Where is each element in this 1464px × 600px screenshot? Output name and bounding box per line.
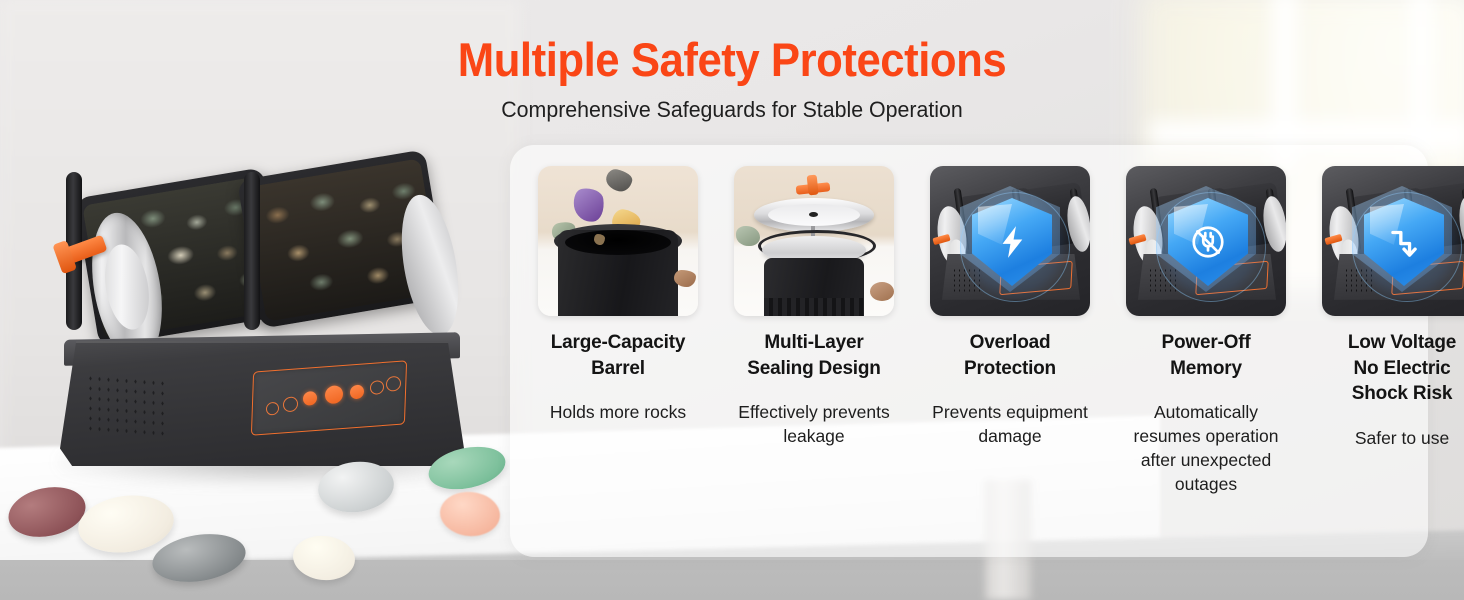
feature-title-line-2: Barrel xyxy=(530,356,706,382)
feature-title-line-1: Low Voltage xyxy=(1314,330,1464,356)
lightning-bolt-shield-icon xyxy=(972,198,1052,286)
feature-title-line-1: Power-Off xyxy=(1118,330,1294,356)
play-pause-button-left[interactable] xyxy=(303,391,317,406)
product-photo-rock-tumbler xyxy=(38,176,508,506)
feature-image-tumbler-with-blue-shield xyxy=(1126,166,1286,316)
feature-image-tumbler-with-blue-shield xyxy=(930,166,1090,316)
minus-button-left[interactable] xyxy=(266,402,279,416)
feature-title-line-3: Shock Risk xyxy=(1314,381,1464,407)
rock-amethyst xyxy=(572,186,606,224)
feature-description: Prevents equipment damage xyxy=(930,401,1090,449)
feature-title-line-1: Overload xyxy=(922,330,1098,356)
feature-card-overload-protection[interactable]: Overload Protection Prevents equipment d… xyxy=(922,145,1098,557)
feature-description: Effectively prevents leakage xyxy=(734,401,894,449)
feature-image-tumbler-with-blue-shield xyxy=(1322,166,1464,316)
feature-title-line-2: No Electric xyxy=(1314,356,1464,382)
page-title: Multiple Safety Protections xyxy=(51,32,1413,87)
feature-description: Safer to use xyxy=(1322,427,1464,451)
power-button[interactable] xyxy=(325,385,343,404)
feature-title-line-1: Multi-Layer xyxy=(726,330,902,356)
feature-title: Multi-Layer Sealing Design xyxy=(726,330,902,381)
orange-t-knob-icon xyxy=(796,182,831,195)
rock-brown xyxy=(674,270,696,287)
feature-title-line-2: Sealing Design xyxy=(726,356,902,382)
play-pause-button-right[interactable] xyxy=(350,384,364,399)
features-list: Large-Capacity Barrel Holds more rocks xyxy=(510,145,1428,557)
voltage-drop-arrow-shield-icon xyxy=(1364,198,1444,286)
no-plug-shield-icon xyxy=(1168,198,1248,286)
ventilation-grille xyxy=(86,373,168,439)
page-subtitle: Comprehensive Safeguards for Stable Oper… xyxy=(22,97,1442,123)
feature-title: Overload Protection xyxy=(922,330,1098,381)
feature-card-power-off-memory[interactable]: Power-Off Memory Automatically resumes o… xyxy=(1118,145,1294,557)
rock-gray xyxy=(604,168,634,194)
feature-description: Holds more rocks xyxy=(538,401,698,425)
barrel-ribs xyxy=(764,298,864,316)
feature-title-line-2: Memory xyxy=(1118,356,1294,382)
window-frame-right xyxy=(1410,0,1432,160)
feature-card-multi-layer-sealing-design[interactable]: Multi-Layer Sealing Design Effectively p… xyxy=(726,145,902,557)
barrel-end-cap-right xyxy=(393,191,468,340)
feature-description: Automatically resumes operation after un… xyxy=(1126,401,1286,496)
feature-image-exploded-sealing-lid xyxy=(734,166,894,316)
feature-card-low-voltage-no-electric-shock-risk[interactable]: Low Voltage No Electric Shock Risk Safer… xyxy=(1314,145,1464,557)
feature-title: Low Voltage No Electric Shock Risk xyxy=(1314,330,1464,407)
lid-vent-hole xyxy=(809,212,818,217)
marketing-banner: Multiple Safety Protections Comprehensiv… xyxy=(0,0,1464,600)
feature-title-line-2: Protection xyxy=(922,356,1098,382)
background-stone-green xyxy=(736,226,760,246)
feature-title-line-1: Large-Capacity xyxy=(530,330,706,356)
feature-title: Large-Capacity Barrel xyxy=(530,330,706,381)
minus-button-right[interactable] xyxy=(370,380,384,395)
background-stone-brown xyxy=(870,282,894,301)
feature-card-large-capacity-barrel[interactable]: Large-Capacity Barrel Holds more rocks xyxy=(530,145,706,557)
plus-button-left[interactable] xyxy=(283,396,298,412)
barrel-band-2 xyxy=(244,172,260,330)
barrel-opening xyxy=(565,230,671,255)
feature-image-barrel-with-falling-rocks xyxy=(538,166,698,316)
feature-title: Power-Off Memory xyxy=(1118,330,1294,381)
end-cap-recess xyxy=(99,241,155,333)
rock-small xyxy=(594,234,605,245)
